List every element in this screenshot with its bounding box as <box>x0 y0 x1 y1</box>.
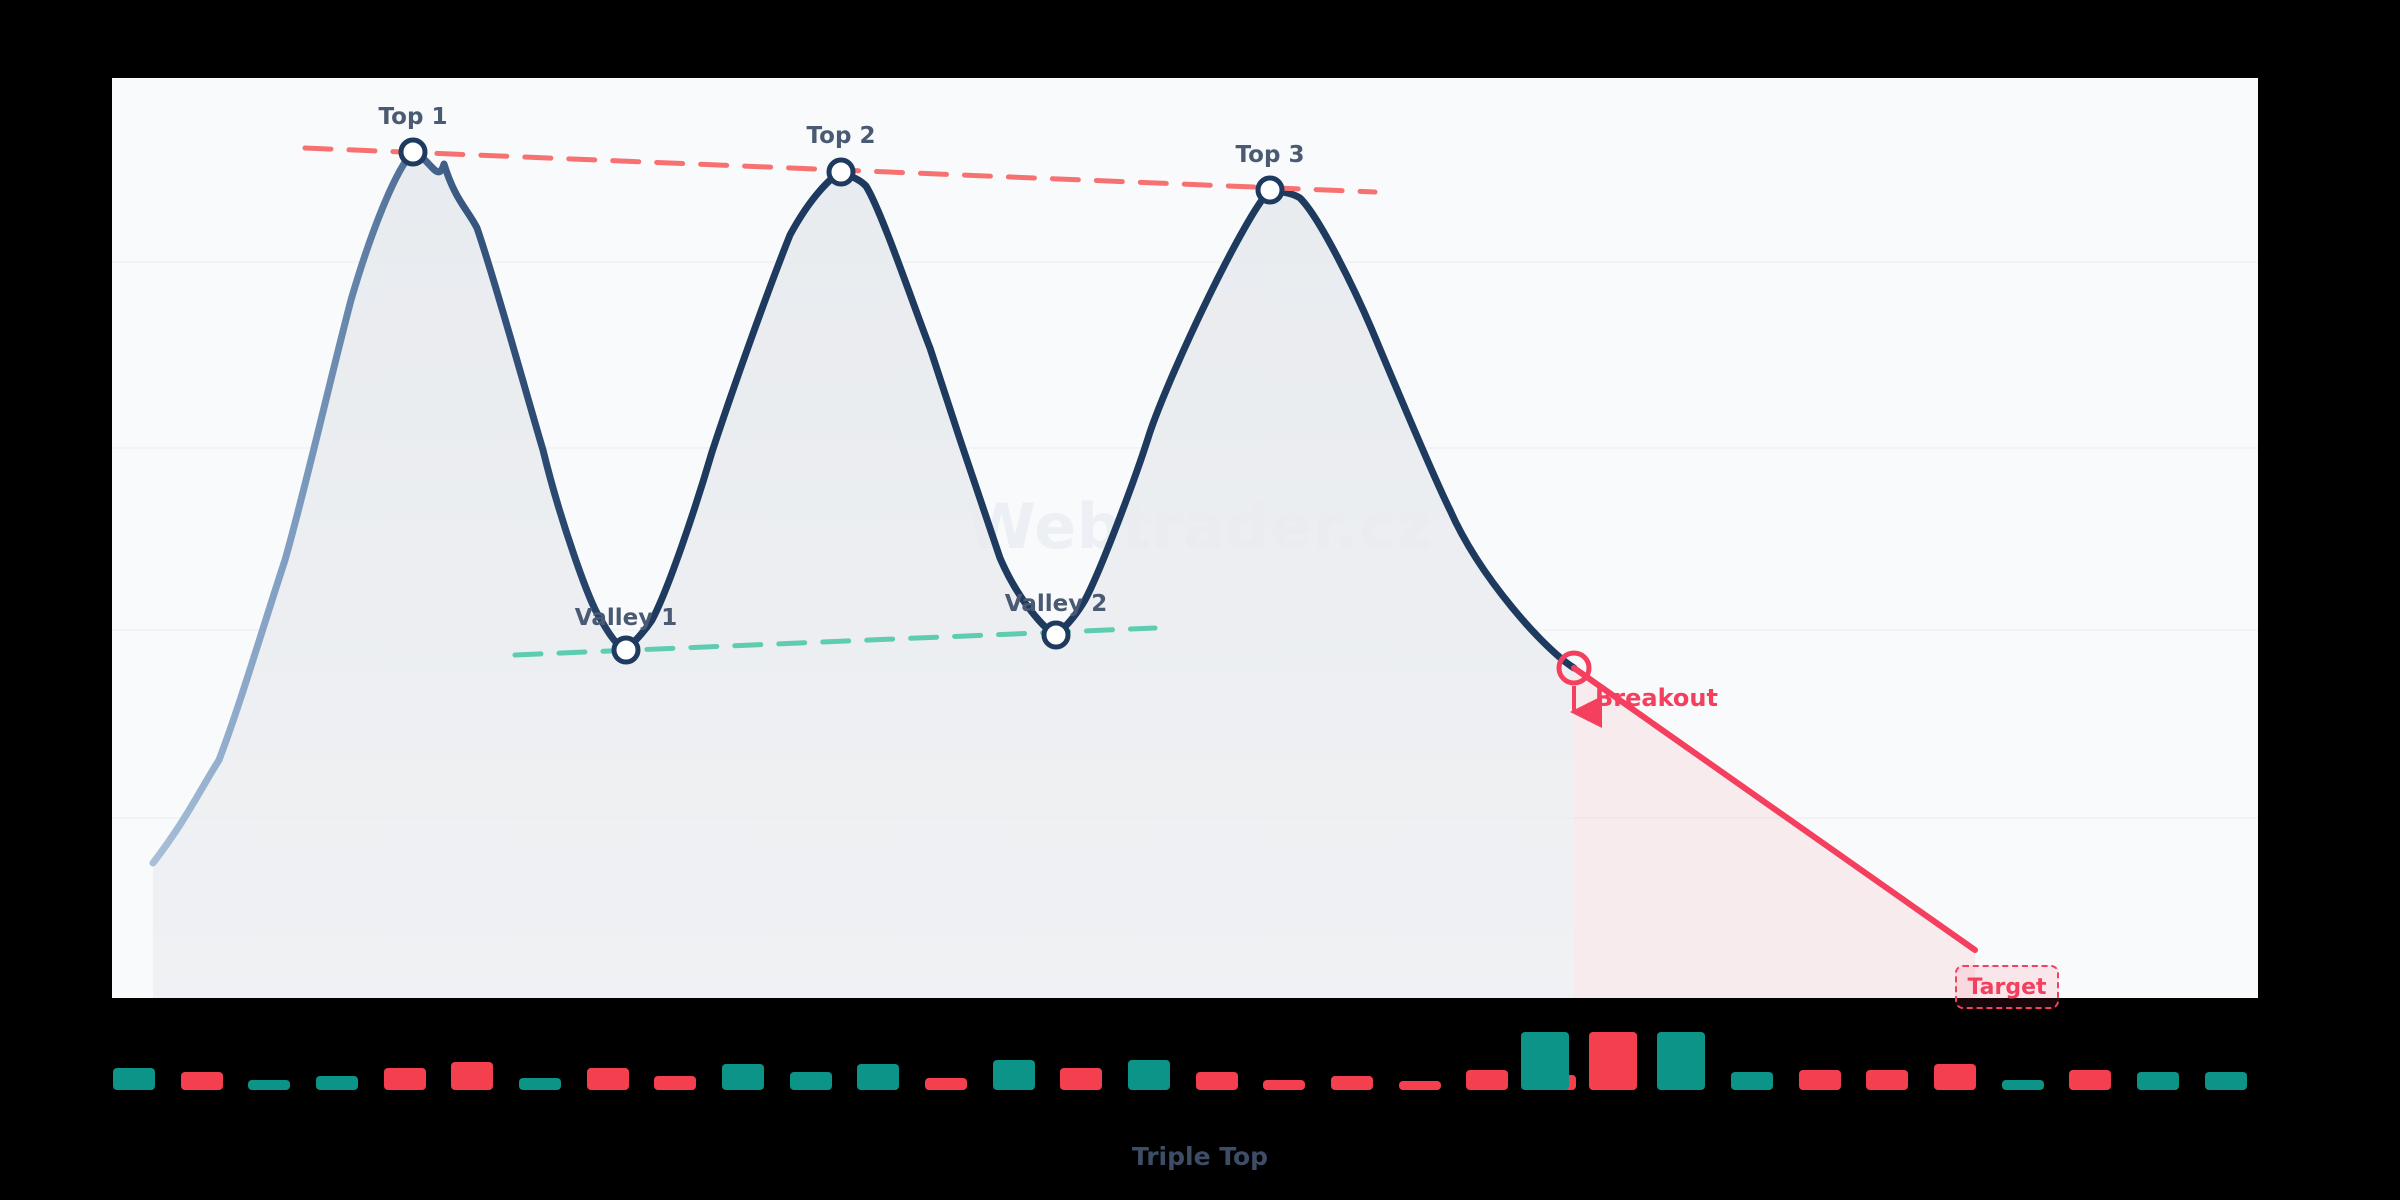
volume-bar <box>722 1064 764 1090</box>
chart-root: Webtrader.cz <box>0 0 2400 1200</box>
label-valley-1: Valley 1 <box>575 605 677 631</box>
volume-bar <box>519 1078 561 1090</box>
volume-bar <box>1196 1072 1238 1090</box>
volume-bar <box>1466 1070 1508 1090</box>
target-box: Target <box>1955 965 2059 1009</box>
volume-bar <box>384 1068 426 1090</box>
volume-bar <box>857 1064 899 1090</box>
chart-canvas <box>0 0 2400 1200</box>
marker-valley-1 <box>614 638 638 662</box>
price-area-fill <box>153 152 1574 998</box>
marker-top-1 <box>401 140 425 164</box>
label-top-3: Top 3 <box>1236 142 1305 168</box>
volume-bar <box>1263 1080 1305 1090</box>
volume-bar <box>790 1072 832 1090</box>
marker-top-2 <box>829 160 853 184</box>
volume-bar <box>113 1068 155 1090</box>
volume-bar <box>181 1072 223 1090</box>
volume-bar <box>1589 1032 1637 1090</box>
volume-bar <box>1657 1032 1705 1090</box>
chart-title: Triple Top <box>0 1142 2400 1171</box>
volume-bar <box>1331 1076 1373 1090</box>
volume-bar <box>654 1076 696 1090</box>
volume-bar <box>1866 1070 1908 1090</box>
volume-bar <box>2069 1070 2111 1090</box>
volume-bar <box>1799 1070 1841 1090</box>
label-top-1: Top 1 <box>379 104 448 130</box>
volume-bar <box>1060 1068 1102 1090</box>
volume-bar <box>1521 1032 1569 1090</box>
volume-bar <box>925 1078 967 1090</box>
volume-bar <box>1399 1081 1441 1090</box>
volume-bar <box>451 1062 493 1090</box>
volume-bar <box>993 1060 1035 1090</box>
volume-bar <box>1731 1072 1773 1090</box>
volume-bar <box>587 1068 629 1090</box>
label-top-2: Top 2 <box>807 123 876 149</box>
volume-bar <box>1128 1060 1170 1090</box>
marker-valley-2 <box>1044 623 1068 647</box>
volume-bar <box>248 1080 290 1090</box>
breakout-projection-fill <box>1574 668 1975 998</box>
volume-bar <box>2137 1072 2179 1090</box>
volume-bar <box>1934 1064 1976 1090</box>
volume-bar <box>316 1076 358 1090</box>
volume-bar <box>2002 1080 2044 1090</box>
marker-top-3 <box>1258 178 1282 202</box>
volume-bar <box>2205 1072 2247 1090</box>
label-breakout: Breakout <box>1595 684 1718 712</box>
label-valley-2: Valley 2 <box>1005 591 1107 617</box>
